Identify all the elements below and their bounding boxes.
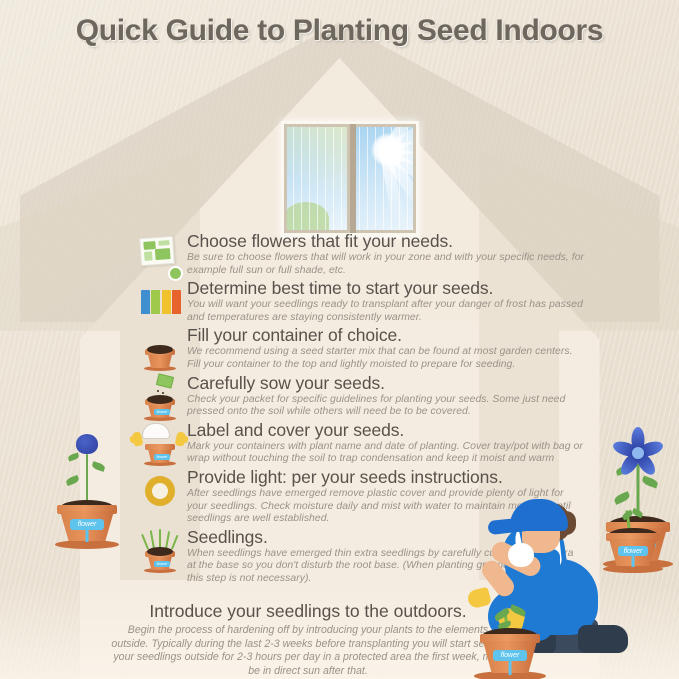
step-item: Fill your container of choice. We recomm… bbox=[137, 325, 585, 371]
window-pane-left bbox=[287, 127, 347, 230]
sowing-seeds-icon: flower bbox=[137, 375, 183, 421]
step-heading: Provide light: per your seeds instructio… bbox=[187, 467, 585, 488]
pot-label-tag: flower bbox=[154, 409, 170, 415]
seed-packets-icon bbox=[137, 280, 183, 326]
sun-light-icon bbox=[137, 469, 183, 515]
step-body: Mark your containers with plant name and… bbox=[187, 441, 585, 466]
seedlings-pot-icon: flower bbox=[137, 529, 183, 575]
step-item: flower Carefully sow your seeds. Check y… bbox=[137, 373, 585, 419]
step-heading: Choose flowers that fit your needs. bbox=[187, 231, 585, 252]
window-with-sun-illustration bbox=[281, 121, 419, 236]
seed-catalog-icon bbox=[137, 233, 183, 279]
step-heading: Fill your container of choice. bbox=[187, 325, 585, 346]
pot-label-tag: flower bbox=[154, 454, 170, 460]
terracotta-pot: flower bbox=[54, 500, 120, 546]
step-body: Check your packet for specific guideline… bbox=[187, 394, 585, 419]
window-blinds-right bbox=[353, 127, 413, 230]
outro-body: Begin the process of hardening off by in… bbox=[108, 624, 508, 678]
window-blinds-left bbox=[287, 127, 347, 230]
step-item: Choose flowers that fit your needs. Be s… bbox=[137, 231, 585, 277]
infographic-poster: Quick Guide to Planting Seed Indoors bbox=[0, 0, 679, 679]
step-heading: Carefully sow your seeds. bbox=[187, 373, 585, 394]
empty-pot-icon bbox=[137, 327, 183, 373]
outro-section: Introduce your seedlings to the outdoors… bbox=[108, 600, 508, 678]
step-body: Be sure to choose flowers that will work… bbox=[187, 252, 585, 277]
step-item: Determine best time to start your seeds.… bbox=[137, 278, 585, 324]
terracotta-pot: flower bbox=[474, 628, 546, 678]
page-title: Quick Guide to Planting Seed Indoors bbox=[0, 14, 679, 48]
step-body: We recommend using a seed starter mix th… bbox=[187, 346, 585, 371]
gloves-cover-pot-icon: flower bbox=[133, 422, 185, 468]
step-heading: Label and cover your seeds. bbox=[187, 420, 585, 441]
potted-seedling: flower bbox=[468, 596, 552, 678]
step-body: You will want your seedlings ready to tr… bbox=[187, 299, 585, 324]
step-heading: Determine best time to start your seeds. bbox=[187, 278, 585, 299]
window-pane-right bbox=[353, 127, 413, 230]
seed-packet-icon bbox=[156, 373, 174, 389]
potted-blue-flower-small: flower bbox=[48, 418, 126, 546]
blue-flower-bloom bbox=[76, 434, 98, 454]
plastic-cover-icon bbox=[142, 423, 170, 439]
window-mullion bbox=[350, 124, 356, 233]
blue-flower-bloom bbox=[611, 426, 665, 480]
outro-heading: Introduce your seedlings to the outdoors… bbox=[108, 600, 508, 622]
pot-label-tag: flower bbox=[154, 561, 170, 567]
step-item: flower Label and cover your seeds. Mark … bbox=[137, 420, 585, 466]
